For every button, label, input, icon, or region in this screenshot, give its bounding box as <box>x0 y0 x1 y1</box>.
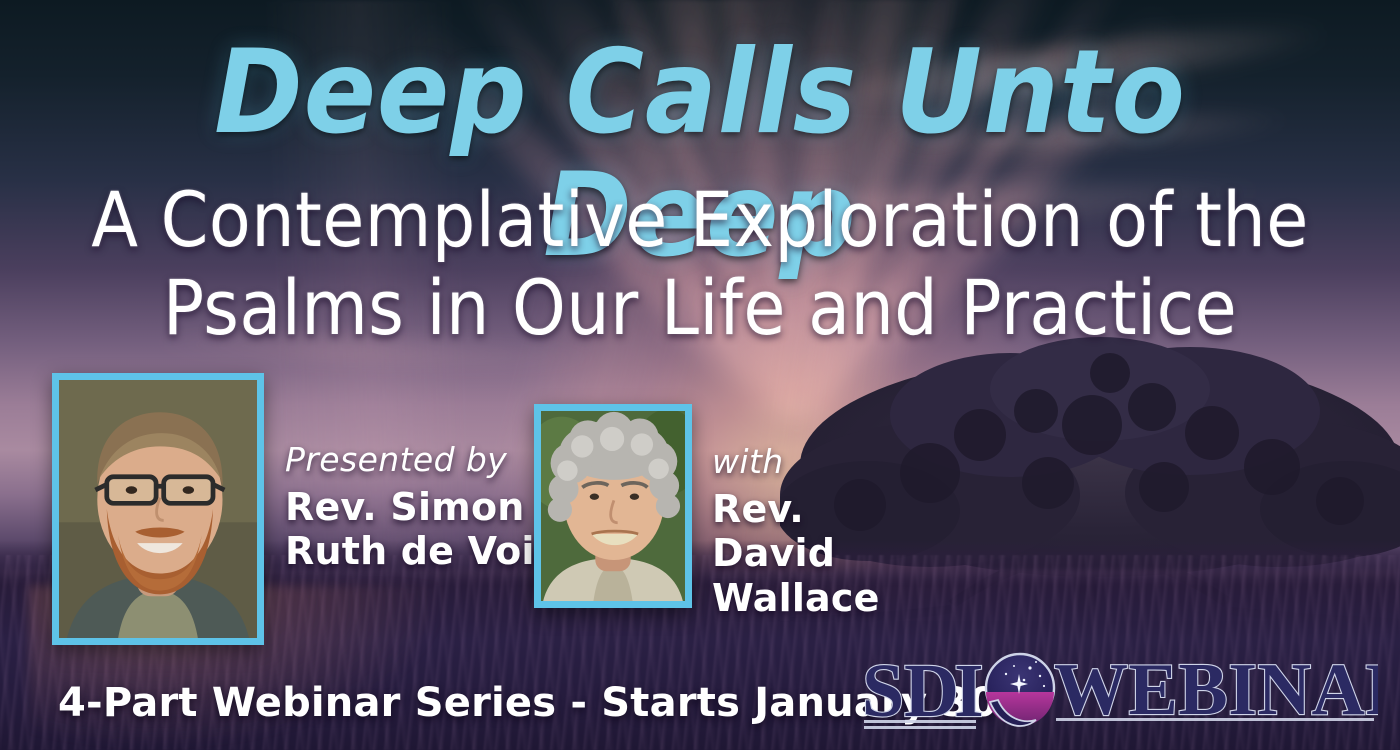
presenter-photo-simon <box>52 373 264 645</box>
night-sky-emblem <box>986 654 1054 726</box>
with-label: with <box>712 443 880 481</box>
page-subtitle: A Contemplative Exploration of the Psalm… <box>70 176 1330 352</box>
presenter-credit-simon: Presented by Rev. Simon Ruth de Voil <box>285 441 548 574</box>
webinar-underline-bar <box>1056 718 1374 721</box>
subtitle-line-1: A Contemplative Exploration of the <box>91 175 1308 264</box>
cohost-name-line-2: David <box>712 531 880 575</box>
presented-by-label: Presented by <box>285 441 548 479</box>
cohost-name-line-1: Rev. <box>712 487 880 531</box>
presenter-credit-david: with Rev. David Wallace <box>712 443 880 620</box>
series-banner-text: 4-Part Webinar Series - Starts January 3… <box>58 680 997 726</box>
presenter-photo-david <box>534 404 692 608</box>
webinar-promo-poster: Deep Calls Unto Deep A Contemplative Exp… <box>0 0 1400 750</box>
presenter-name-line-1: Rev. Simon <box>285 485 548 529</box>
subtitle-line-2: Psalms in Our Life and Practice <box>70 264 1330 352</box>
sdi-webinar-logo: S D I <box>858 640 1378 736</box>
presenter-name-line-2: Ruth de Voil <box>285 529 548 573</box>
cohost-name-line-3: Wallace <box>712 576 880 620</box>
